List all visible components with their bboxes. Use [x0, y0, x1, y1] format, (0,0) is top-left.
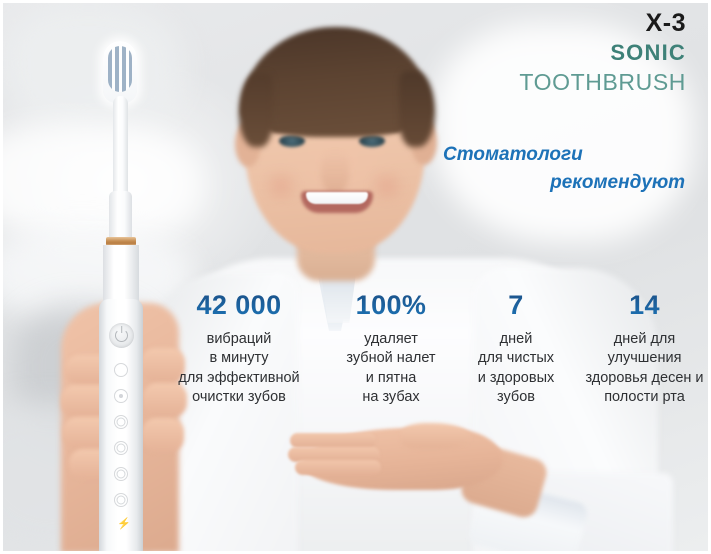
mode-indicator-6-icon: [114, 493, 128, 507]
recommend-line-2: рекомендуют: [433, 169, 691, 197]
stat-description-line: зубной налет: [328, 349, 454, 368]
stat-description: дней для улучшения здоровья десен и поло…: [578, 330, 711, 408]
stat-description: дней для чистых и здоровых зубов: [460, 330, 572, 408]
stat-description-line: для чистых: [460, 349, 572, 368]
stat-value: 7: [460, 291, 572, 321]
brush-body-upper: [103, 245, 139, 307]
mode-indicator-5-icon: [114, 467, 128, 481]
mode-indicator-1-icon: [114, 363, 128, 377]
stat-description-line: здоровья десен и: [578, 369, 711, 388]
stat-item-vibrations: 42 000 вибраций в минуту для эффективной…: [153, 291, 325, 407]
teeth: [306, 192, 368, 204]
stat-value: 42 000: [156, 291, 322, 321]
finger: [290, 433, 376, 448]
stats-row: 42 000 вибраций в минуту для эффективной…: [153, 291, 711, 407]
mode-indicator-3-icon: [114, 415, 128, 429]
charge-bolt-icon: ⚡: [117, 519, 131, 530]
recommend-line-1: Стоматологи: [433, 141, 691, 169]
product-type: TOOTHBRUSH: [519, 69, 686, 97]
stat-description: вибраций в минуту для эффективной очистк…: [156, 330, 322, 408]
brush-neck-flare: [109, 191, 132, 243]
dentists-recommend-text: Стоматологи рекомендуют: [433, 141, 691, 196]
power-button[interactable]: [109, 323, 134, 348]
stat-item-fourteen-days: 14 дней для улучшения здоровья десен и п…: [575, 291, 711, 407]
cheek-left: [259, 171, 303, 201]
stat-value: 100%: [328, 291, 454, 321]
mode-indicator-4-icon: [114, 441, 128, 455]
eye-right: [359, 135, 385, 147]
hair-side-left: [239, 73, 273, 147]
stat-description-line: и здоровых: [460, 369, 572, 388]
eye-left: [279, 135, 305, 147]
stat-description-line: зубов: [460, 388, 572, 407]
stat-value: 14: [578, 291, 711, 321]
stat-description-line: улучшения: [578, 349, 711, 368]
brand-block: X-3 SONIC TOOTHBRUSH: [519, 9, 686, 96]
stat-description: удаляет зубной налет и пятна на зубах: [328, 330, 454, 408]
nose: [321, 151, 349, 195]
power-icon: [115, 329, 128, 342]
stat-description-line: полости рта: [578, 388, 711, 407]
bristles-icon: [108, 46, 132, 92]
stat-item-seven-days: 7 дней для чистых и здоровых зубов: [457, 291, 575, 407]
stat-item-plaque-removal: 100% удаляет зубной налет и пятна на зуб…: [325, 291, 457, 407]
mode-indicator-2-icon: [114, 389, 128, 403]
stat-description-line: вибраций: [156, 330, 322, 349]
finger: [295, 460, 381, 475]
product-model: X-3: [519, 9, 686, 38]
product-poster: ⚡ X-3 SONIC TOOTHBRUSH Стоматологи реком…: [0, 0, 711, 554]
sonic-toothbrush-product: ⚡: [89, 41, 151, 554]
stat-description-line: на зубах: [328, 388, 454, 407]
thumb: [401, 423, 471, 449]
hair-side-right: [399, 71, 435, 147]
stat-description-line: для эффективной: [156, 369, 322, 388]
stat-description-line: очистки зубов: [156, 388, 322, 407]
product-technology: SONIC: [519, 38, 686, 69]
stat-description-line: удаляет: [328, 330, 454, 349]
stat-description-line: в минуту: [156, 349, 322, 368]
stat-description-line: дней для: [578, 330, 711, 349]
stat-description-line: и пятна: [328, 369, 454, 388]
stat-description-line: дней: [460, 330, 572, 349]
